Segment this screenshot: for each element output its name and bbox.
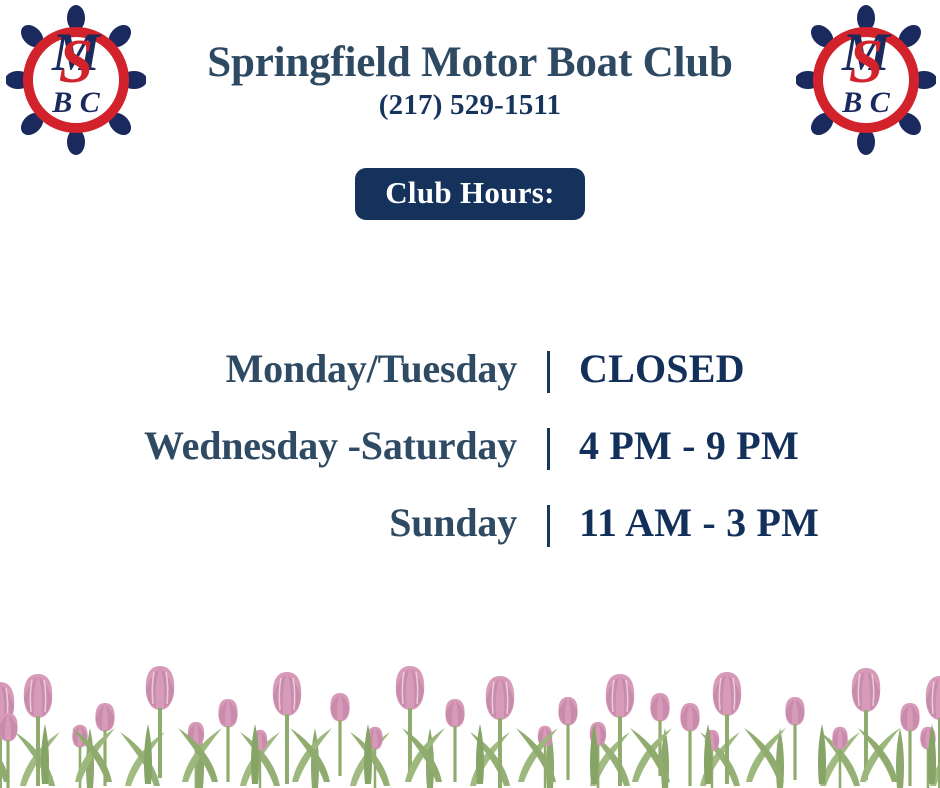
club-hours-badge: Club Hours: — [355, 168, 585, 220]
table-row: Sunday 11 AM - 3 PM — [0, 484, 940, 561]
ships-wheel-logo-left: M S B C — [6, 4, 146, 156]
hours-day-label: Wednesday -Saturday — [0, 407, 517, 484]
monogram-smbc: M S B C — [51, 22, 102, 119]
separator-bar — [547, 351, 550, 393]
phone-number: (217) 529-1511 — [150, 89, 790, 122]
table-row: Monday/Tuesday CLOSED — [0, 330, 940, 407]
hours-day-label: Sunday — [0, 484, 517, 561]
club-hours-poster: M S B C — [0, 0, 940, 788]
hours-separator — [517, 330, 579, 407]
tulip-row-tall — [0, 666, 940, 788]
club-hours-badge-row: Club Hours: — [0, 168, 940, 220]
poster-header: M S B C — [0, 0, 940, 165]
svg-text:B C: B C — [51, 86, 101, 119]
page-title: Springfield Motor Boat Club — [150, 40, 790, 85]
hours-value: 11 AM - 3 PM — [579, 484, 940, 561]
hours-section: Monday/Tuesday CLOSED Wednesday -Saturda… — [0, 330, 940, 561]
tulip-flower-border — [0, 660, 940, 788]
hours-value: 4 PM - 9 PM — [579, 407, 940, 484]
ships-wheel-logo-right: M S B C — [796, 4, 936, 156]
monogram-smbc: M S B C — [841, 22, 892, 119]
table-row: Wednesday -Saturday 4 PM - 9 PM — [0, 407, 940, 484]
hours-table: Monday/Tuesday CLOSED Wednesday -Saturda… — [0, 330, 940, 561]
hours-day-label: Monday/Tuesday — [0, 330, 517, 407]
separator-bar — [547, 428, 550, 470]
separator-bar — [547, 505, 550, 547]
svg-text:B C: B C — [841, 86, 891, 119]
hours-value: CLOSED — [579, 330, 940, 407]
hours-separator — [517, 484, 579, 561]
hours-separator — [517, 407, 579, 484]
title-block: Springfield Motor Boat Club (217) 529-15… — [150, 40, 790, 122]
